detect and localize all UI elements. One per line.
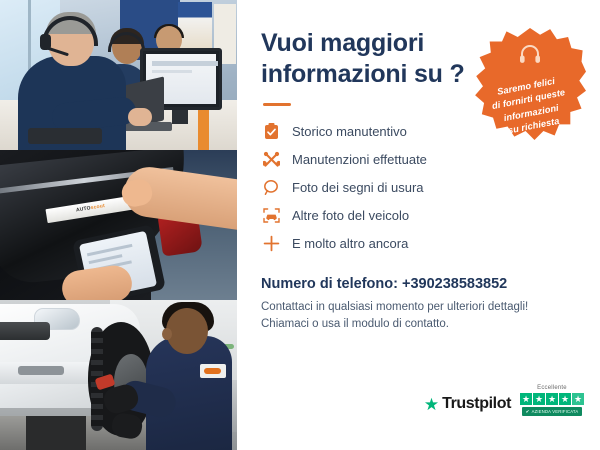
tools-cross-icon xyxy=(261,149,281,169)
feature-item-foto-usura: Foto dei segni di usura xyxy=(261,174,578,200)
trustpilot-rating-block: Eccellente ★ ★ ★ ★ ★ ✔ AZIENDA VERIFICAT… xyxy=(520,385,584,416)
trustpilot-wordmark: Trustpilot xyxy=(442,395,511,413)
star-5: ★ xyxy=(572,393,584,405)
call-center-photo xyxy=(0,0,237,150)
car-fog-light xyxy=(18,366,64,375)
phone-label: Numero di telefono: xyxy=(261,276,398,292)
phone-number[interactable]: +390238583852 xyxy=(402,276,507,292)
page-title: Vuoi maggiori informazioni su ? xyxy=(261,28,476,89)
feature-item-manutenzioni: Manutenzioni effettuate xyxy=(261,146,578,172)
trustpilot-star-icon: ★ xyxy=(424,396,439,413)
clipboard-check-icon xyxy=(261,121,281,141)
plus-icon xyxy=(261,233,281,253)
feature-label: E molto altro ancora xyxy=(292,237,408,250)
star-3: ★ xyxy=(546,393,558,405)
feature-label: Storico manutentivo xyxy=(292,125,407,138)
monitor-stand xyxy=(172,110,188,124)
lift-shadow xyxy=(26,416,86,450)
content-panel: Vuoi maggiori informazioni su ? Storico … xyxy=(237,0,600,450)
feature-label: Foto dei segni di usura xyxy=(292,181,424,194)
phone-number-line[interactable]: Numero di telefono: +390238583852 xyxy=(261,276,578,292)
wall-poster xyxy=(178,2,212,50)
star-2: ★ xyxy=(533,393,545,405)
feature-label: Manutenzioni effettuate xyxy=(292,153,427,166)
mechanic-wheel-photo xyxy=(0,300,237,450)
operator-hand xyxy=(128,108,152,126)
rating-stars: ★ ★ ★ ★ ★ xyxy=(520,393,584,405)
callout-badge: Saremo felici di fornirti queste informa… xyxy=(474,28,586,140)
contact-subtext: Contattaci in qualsiasi momento per ulte… xyxy=(261,299,578,334)
uniform-logo-patch xyxy=(200,364,226,378)
magnifier-icon xyxy=(261,177,281,197)
headset-icon xyxy=(519,45,541,69)
car-grille xyxy=(0,322,50,340)
title-divider xyxy=(263,103,291,106)
rating-label: Eccellente xyxy=(537,385,567,391)
contact-info-banner: AUTOscout xyxy=(0,0,600,450)
feature-item-altro: E molto altro ancora xyxy=(261,230,578,256)
mechanic-ear xyxy=(162,328,172,340)
check-circle-icon: ✔ xyxy=(526,409,530,415)
star-4: ★ xyxy=(559,393,571,405)
trustpilot-logo[interactable]: ★ Trustpilot xyxy=(424,395,511,416)
ruler-brand-label: AUTOscout xyxy=(76,203,106,213)
trustpilot-widget[interactable]: ★ Trustpilot Eccellente ★ ★ ★ ★ ★ ✔ AZIE… xyxy=(424,385,584,416)
feature-label: Altre foto del veicolo xyxy=(292,209,409,222)
verified-business-badge: ✔ AZIENDA VERIFICATA xyxy=(522,407,583,416)
verified-label: AZIENDA VERIFICATA xyxy=(532,409,579,414)
subtext-line-2: Chiamaci o usa il modulo di contatto. xyxy=(261,316,578,333)
car-inspection-photo: AUTOscout xyxy=(0,150,237,300)
feature-item-altre-foto: Altre foto del veicolo xyxy=(261,202,578,228)
star-1: ★ xyxy=(520,393,532,405)
car-photo-frame-icon xyxy=(261,205,281,225)
desk-tablet xyxy=(28,128,102,144)
photo-column: AUTOscout xyxy=(0,0,237,450)
subtext-line-1: Contattaci in qualsiasi momento per ulte… xyxy=(261,299,578,316)
mechanic-head xyxy=(166,308,208,354)
